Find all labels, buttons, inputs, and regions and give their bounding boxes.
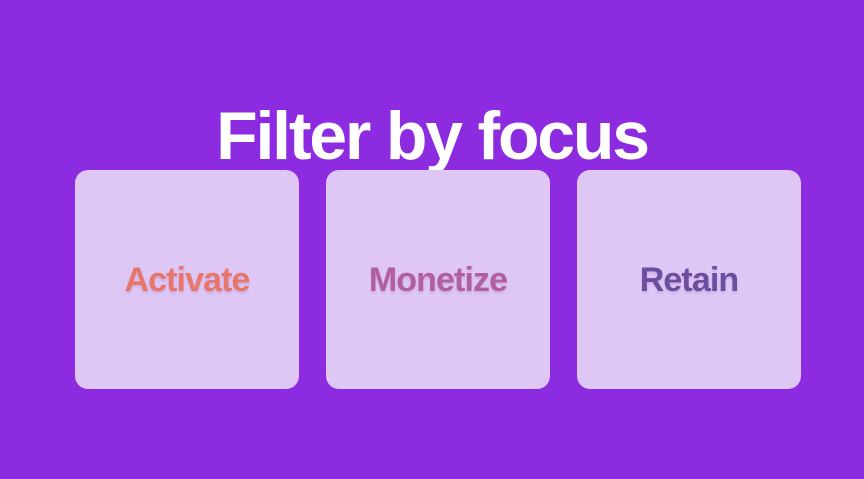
- filter-card-label-retain: Retain: [640, 262, 739, 298]
- page-title: Filter by focus: [0, 100, 864, 172]
- filter-card-monetize[interactable]: Monetize: [326, 170, 550, 389]
- filter-card-label-monetize: Monetize: [369, 262, 507, 298]
- filter-card-label-activate: Activate: [124, 262, 249, 298]
- filter-card-activate[interactable]: Activate: [75, 170, 299, 389]
- filter-by-focus-screen: Filter by focus Activate Monetize Retain: [0, 0, 864, 479]
- filter-card-retain[interactable]: Retain: [577, 170, 801, 389]
- filter-card-row: Activate Monetize Retain: [75, 170, 801, 389]
